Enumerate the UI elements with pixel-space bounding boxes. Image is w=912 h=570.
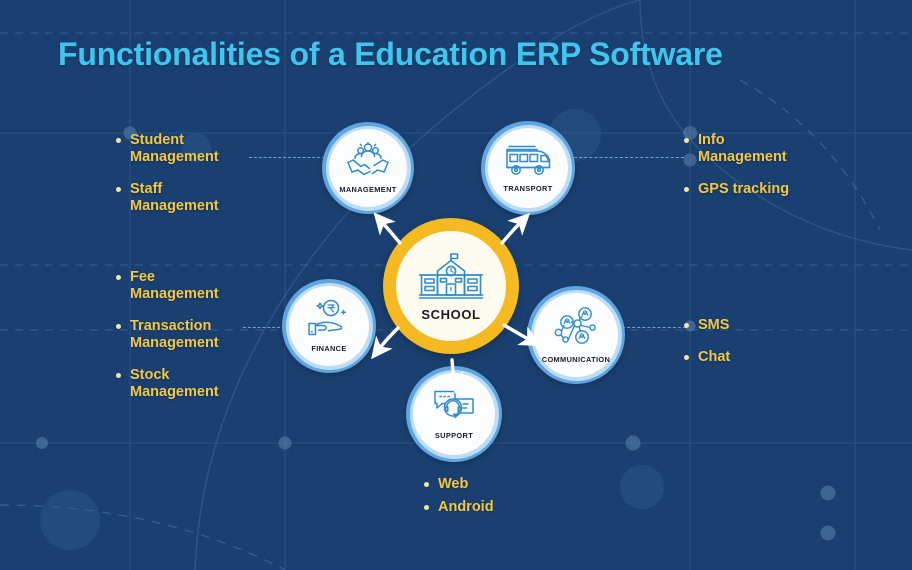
school-bus-icon: [503, 143, 553, 182]
bullet-label: Staff Management: [130, 181, 219, 215]
list-item: Fee Management: [116, 269, 219, 303]
node-transport[interactable]: TRANSPORT: [481, 121, 575, 215]
arrow-to-management: [382, 222, 400, 243]
page-title: Functionalities of a Education ERP Softw…: [58, 36, 723, 73]
bullet-dot: [684, 187, 689, 192]
center-face: SCHOOL: [396, 231, 506, 341]
handshake-team-icon: [345, 142, 391, 183]
infographic-canvas: Functionalities of a Education ERP Softw…: [0, 0, 912, 570]
node-management[interactable]: MANAGEMENT: [322, 122, 414, 214]
connector-management: [249, 157, 325, 158]
bullet-dot: [684, 323, 689, 328]
bullet-group-communication-features: SMS Chat: [684, 317, 730, 366]
bullet-label: Stock Management: [130, 367, 219, 401]
bullet-label: Transaction Management: [130, 318, 219, 352]
bullet-label: Web: [438, 476, 468, 493]
user-network-icon: [552, 306, 600, 353]
bullet-label: Info Management: [698, 132, 787, 166]
bullet-label: Fee Management: [130, 269, 219, 303]
arrow-to-transport: [502, 222, 521, 243]
bullet-group-transport-features: Info Management GPS tracking: [684, 132, 789, 198]
list-item: Transaction Management: [116, 318, 219, 352]
node-label: COMMUNICATION: [542, 355, 610, 364]
bullet-dot: [424, 505, 429, 510]
node-outer-ring: SUPPORT: [410, 370, 499, 459]
list-item: GPS tracking: [684, 181, 789, 198]
list-item: Chat: [684, 349, 730, 366]
node-finance[interactable]: FINANCE: [282, 279, 376, 373]
node-face: COMMUNICATION: [534, 293, 618, 377]
list-item: Staff Management: [116, 181, 219, 215]
chat-headset-icon: [431, 388, 477, 429]
bullet-dot: [116, 187, 121, 192]
connector-communication: [622, 327, 686, 328]
node-outer-ring: FINANCE: [286, 283, 373, 370]
bullet-group-support-features: Web Android: [424, 476, 494, 522]
node-label: TRANSPORT: [503, 184, 552, 193]
bullet-dot: [424, 482, 429, 487]
node-outer-ring: COMMUNICATION: [531, 290, 622, 381]
node-label: FINANCE: [311, 344, 346, 353]
node-face: MANAGEMENT: [329, 129, 407, 207]
node-school-center[interactable]: SCHOOL: [383, 218, 519, 354]
bullet-dot: [116, 275, 121, 280]
arrow-to-finance: [379, 328, 398, 349]
bullet-dot: [116, 324, 121, 329]
connector-finance: [243, 327, 285, 328]
bullet-label: Android: [438, 499, 494, 516]
node-face: SUPPORT: [413, 373, 495, 455]
node-support[interactable]: SUPPORT: [406, 366, 502, 462]
bullet-dot: [684, 355, 689, 360]
list-item: Android: [424, 499, 494, 516]
bullet-group-finance-features: Fee Management Transaction Management St…: [116, 269, 219, 401]
list-item: SMS: [684, 317, 730, 334]
bullet-label: Student Management: [130, 132, 219, 166]
school-building-icon: [417, 251, 485, 306]
node-outer-ring: TRANSPORT: [485, 125, 572, 212]
bullet-dot: [684, 138, 689, 143]
node-face: TRANSPORT: [488, 128, 568, 208]
node-outer-ring: MANAGEMENT: [326, 126, 411, 211]
hand-rupee-coin-icon: [306, 299, 352, 342]
bullet-label: Chat: [698, 349, 730, 366]
node-label: MANAGEMENT: [339, 185, 396, 194]
bullet-dot: [116, 138, 121, 143]
list-item: Student Management: [116, 132, 219, 166]
bullet-group-management-features: Student Management Staff Management: [116, 132, 219, 215]
list-item: Web: [424, 476, 494, 493]
node-communication[interactable]: COMMUNICATION: [527, 286, 625, 384]
bullet-label: SMS: [698, 317, 729, 334]
bullet-label: GPS tracking: [698, 181, 789, 198]
list-item: Info Management: [684, 132, 789, 166]
bullet-dot: [116, 373, 121, 378]
connector-transport: [574, 157, 684, 158]
list-item: Stock Management: [116, 367, 219, 401]
node-face: FINANCE: [289, 286, 369, 366]
center-label: SCHOOL: [421, 307, 480, 322]
node-label: SUPPORT: [435, 431, 473, 440]
